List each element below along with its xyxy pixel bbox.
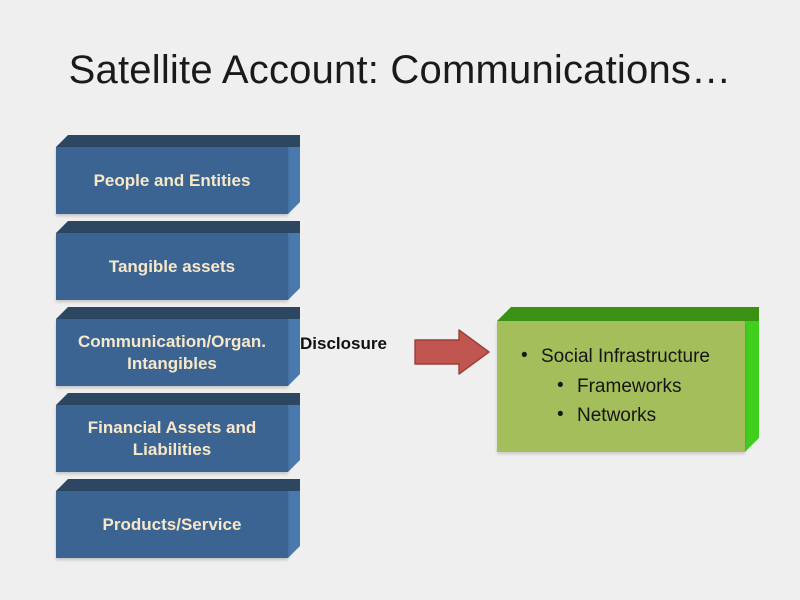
input-box-label: Tangible assets <box>103 256 241 277</box>
box-top-face <box>56 221 300 233</box>
arrow-shape <box>415 330 489 374</box>
slide-canvas: Satellite Account: Communications… Peopl… <box>0 0 800 600</box>
output-list: Social Infrastructure Frameworks Network… <box>497 342 745 430</box>
box-side-face <box>745 321 759 452</box>
box-side-face <box>288 319 300 386</box>
box-top-face <box>56 393 300 405</box>
input-components-stack: People and Entities Tangible assets Comm… <box>56 135 316 560</box>
list-item: Frameworks <box>517 372 745 401</box>
box-front-face: People and Entities <box>56 147 288 214</box>
box-front-face: Social Infrastructure Frameworks Network… <box>497 321 745 452</box>
box-front-face: Tangible assets <box>56 233 288 300</box>
box-top-face <box>56 135 300 147</box>
input-box-label: Financial Assets and Liabilities <box>56 417 288 460</box>
right-arrow-icon <box>413 327 491 377</box>
box-top-face <box>56 479 300 491</box>
box-top-face <box>497 307 759 321</box>
input-box-people-and-entities[interactable]: People and Entities <box>56 135 300 214</box>
input-box-label: People and Entities <box>88 170 257 191</box>
box-front-face: Products/Service <box>56 491 288 558</box>
input-box-label: Products/Service <box>97 514 248 535</box>
list-item: Social Infrastructure <box>517 342 745 371</box>
box-side-face <box>288 233 300 300</box>
box-side-face <box>288 147 300 214</box>
output-box[interactable]: Social Infrastructure Frameworks Network… <box>497 307 759 452</box>
box-front-face: Communication/Organ. Intangibles <box>56 319 288 386</box>
box-side-face <box>288 405 300 472</box>
disclosure-label: Disclosure <box>300 334 387 354</box>
page-title: Satellite Account: Communications… <box>0 48 800 93</box>
box-top-face <box>56 307 300 319</box>
input-box-financial-assets-and-liabilities[interactable]: Financial Assets and Liabilities <box>56 393 300 472</box>
input-box-products-service[interactable]: Products/Service <box>56 479 300 558</box>
box-side-face <box>288 491 300 558</box>
input-box-communication-organ-intangibles[interactable]: Communication/Organ. Intangibles <box>56 307 300 386</box>
input-box-tangible-assets[interactable]: Tangible assets <box>56 221 300 300</box>
list-item: Networks <box>517 401 745 430</box>
input-box-label: Communication/Organ. Intangibles <box>56 331 288 374</box>
box-front-face: Financial Assets and Liabilities <box>56 405 288 472</box>
